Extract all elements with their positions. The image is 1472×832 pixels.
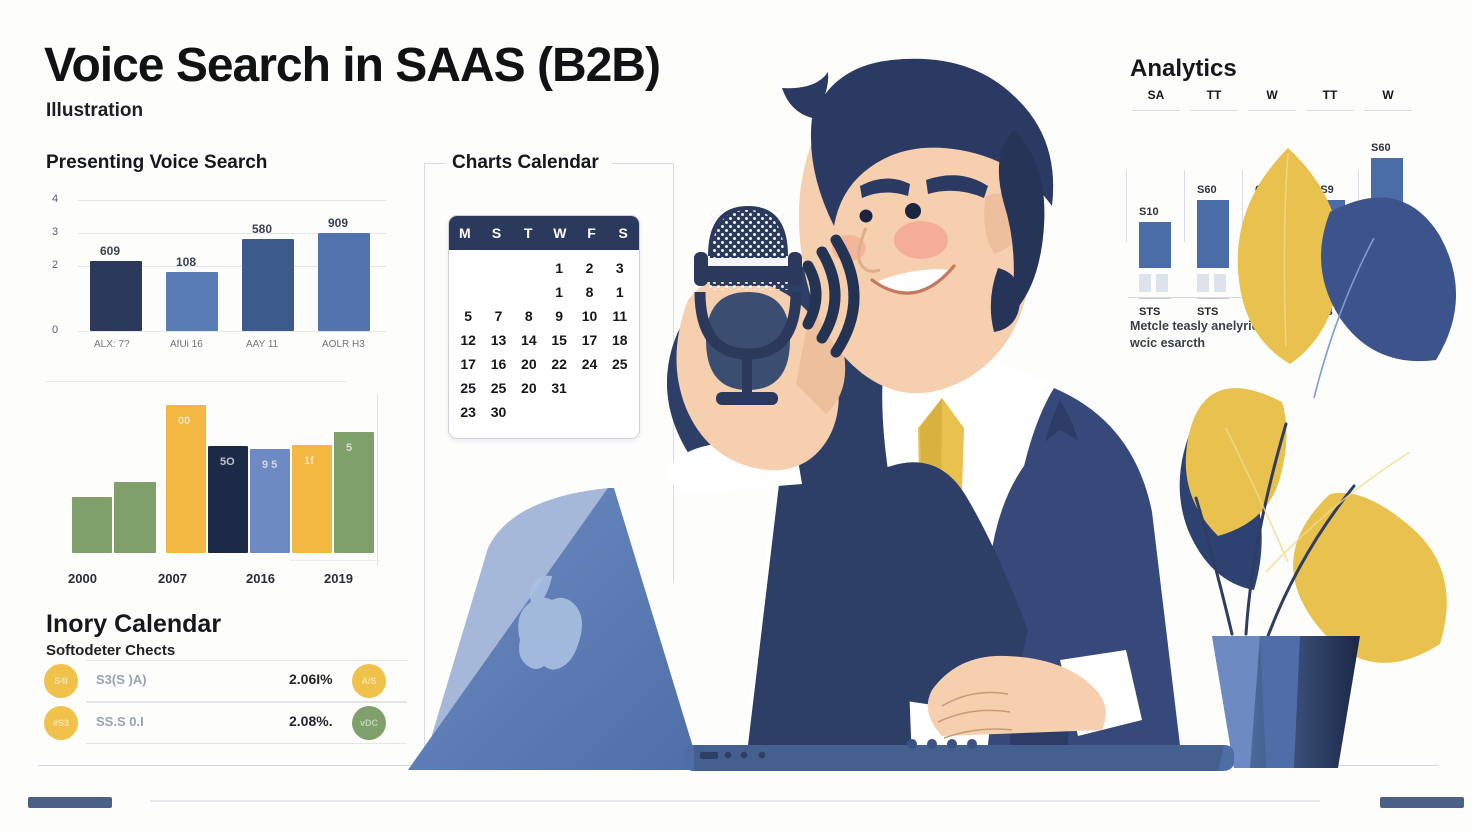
calendar-weekday-header: MSTWFS xyxy=(449,216,639,250)
analytics-footer-rule xyxy=(1371,298,1403,299)
calendar-week-row: 171620222425 xyxy=(453,352,635,376)
analytics-swatch xyxy=(1371,274,1383,292)
analytics-bottom-rule xyxy=(1128,297,1314,298)
list-row-rule-top xyxy=(86,702,407,703)
analytics-swatch xyxy=(1139,274,1151,292)
chart1-plot-area: 609108580909 xyxy=(78,200,386,331)
analytics-footer-label: SE8 xyxy=(1371,306,1392,318)
calendar-weekday: M xyxy=(449,225,481,241)
analytics-bar[interactable] xyxy=(1313,200,1345,268)
presenting-bar-chart: 609108580909 0234ALX: 7?AfUi 16AAY 11AOL… xyxy=(46,200,386,355)
list-row-rule-bottom xyxy=(86,743,407,744)
calendar-day[interactable]: 1 xyxy=(544,284,574,300)
list-avatar-left[interactable]: #S3 xyxy=(44,706,78,740)
calendar-day-empty: · xyxy=(514,284,544,300)
analytics-caption: Metcle teasly anelyrics in wcic esarcth xyxy=(1130,318,1310,352)
analytics-column-separator xyxy=(1126,170,1127,242)
bracket-top-right xyxy=(612,163,674,164)
chart1-y-tick: 4 xyxy=(52,193,58,205)
section-title-inory-calendar: Inory Calendar xyxy=(46,610,221,639)
macbook-laptop xyxy=(408,488,1234,771)
page-subtitle: Illustration xyxy=(46,100,143,122)
chart2-bar-value: 1f xyxy=(304,455,314,467)
softodeter-list: S4IS3(S )A)2.06I%A/S#S3SS.S 0.I2.08%.vDC xyxy=(44,660,389,744)
chart1-bar[interactable] xyxy=(242,239,294,331)
chart2-bar[interactable] xyxy=(114,482,156,553)
chart1-y-tick: 2 xyxy=(52,259,58,271)
analytics-swatch xyxy=(1156,274,1168,292)
analytics-swatch xyxy=(1313,274,1325,292)
apple-logo xyxy=(518,576,582,670)
analytics-footer-label: STS xyxy=(1139,306,1160,318)
calendar-card[interactable]: MSTWFS ···123···181578910111213141517181… xyxy=(448,215,640,439)
desk-horizon-line xyxy=(38,765,1438,766)
calendar-weekday: W xyxy=(544,225,576,241)
calendar-day-empty: · xyxy=(453,284,483,300)
chart2-plot-area: 005O9 51f5 xyxy=(54,405,391,558)
analytics-bar-chart: SAS10STSTTS60STSW6S9SHTTSS9S28WS60SE8 xyxy=(1128,88,1418,318)
chart1-bar[interactable] xyxy=(90,261,142,331)
bracket-left-edge xyxy=(424,163,425,750)
analytics-bar-value: SS9 xyxy=(1313,184,1334,196)
analytics-footer-rule xyxy=(1139,298,1171,299)
analytics-column-header: SA xyxy=(1130,88,1182,111)
analytics-swatch xyxy=(1255,274,1267,292)
calendar-day[interactable]: 8 xyxy=(574,284,604,300)
footer-tab-left xyxy=(28,797,112,808)
analytics-column-separator xyxy=(1242,170,1243,242)
illustration-canvas: Voice Search in SAAS (B2B) Illustration … xyxy=(0,0,1472,832)
calendar-weekday: S xyxy=(607,225,639,241)
calendar-day-empty: · xyxy=(514,260,544,276)
calendar-day[interactable]: 8 xyxy=(514,308,544,324)
analytics-swatch xyxy=(1388,274,1400,292)
chart2-bar[interactable] xyxy=(334,432,374,553)
calendar-day[interactable]: 18 xyxy=(605,332,635,348)
analytics-footer-rule xyxy=(1197,298,1229,299)
calendar-day[interactable]: 31 xyxy=(544,380,574,396)
calendar-day[interactable]: 22 xyxy=(544,356,574,372)
sound-wave-icon xyxy=(808,240,854,352)
analytics-column-underline xyxy=(1306,110,1354,111)
list-item[interactable]: S4IS3(S )A)2.06I%A/S xyxy=(44,660,389,702)
list-row-rule-top xyxy=(86,660,407,661)
chart2-year-label: 2000 xyxy=(68,571,97,586)
analytics-column-label: SA xyxy=(1148,88,1165,102)
calendar-day[interactable]: 23 xyxy=(453,404,483,420)
chart1-gridline xyxy=(78,331,386,332)
chart1-bar-value: 108 xyxy=(176,255,196,269)
calendar-day[interactable]: 30 xyxy=(483,404,513,420)
analytics-footer-rule xyxy=(1313,298,1345,299)
calendar-week-row: 25252031·· xyxy=(453,376,635,400)
chart1-category-label: AfUi 16 xyxy=(170,339,203,350)
chart2-bar[interactable] xyxy=(72,497,112,553)
page-title: Voice Search in SAAS (B2B) xyxy=(44,42,660,90)
footer-tab-right xyxy=(1380,797,1464,808)
calendar-day[interactable]: 1 xyxy=(605,284,635,300)
chart1-bar-value: 609 xyxy=(100,244,120,258)
analytics-footer-label: SH xyxy=(1255,306,1270,318)
calendar-day[interactable]: 5 xyxy=(453,308,483,324)
footer-rule xyxy=(150,800,1320,802)
calendar-day[interactable]: 20 xyxy=(514,356,544,372)
calendar-day[interactable]: 25 xyxy=(453,380,483,396)
list-avatar-right[interactable]: vDC xyxy=(352,706,386,740)
chart2-bar[interactable] xyxy=(166,405,206,553)
chart1-category-label: AAY 11 xyxy=(246,339,278,350)
calendar-day[interactable]: 1 xyxy=(544,260,574,276)
analytics-footer-label: STS xyxy=(1197,306,1218,318)
chart2-divider xyxy=(46,381,346,382)
calendar-day[interactable]: 10 xyxy=(574,308,604,324)
calendar-grid: ···123···1815789101112131415171817162022… xyxy=(449,250,639,424)
analytics-column-header: W xyxy=(1362,88,1414,111)
calendar-day-empty: · xyxy=(514,404,544,420)
chart2-bar-value: 9 5 xyxy=(262,459,277,471)
bracket-top-left xyxy=(424,163,446,164)
calendar-weekday: S xyxy=(481,225,513,241)
chart2-year-label: 2007 xyxy=(158,571,187,586)
analytics-column-separator xyxy=(1184,170,1185,242)
list-item-name: SS.S 0.I xyxy=(96,714,144,729)
calendar-day-empty: · xyxy=(544,404,574,420)
calendar-day-empty: · xyxy=(483,284,513,300)
list-avatar-right[interactable]: A/S xyxy=(352,664,386,698)
calendar-week-row: 57891011 xyxy=(453,304,635,328)
businessman-figure xyxy=(666,59,1182,762)
analytics-bar[interactable] xyxy=(1371,158,1403,268)
calendar-day[interactable]: 12 xyxy=(453,332,483,348)
calendar-day-empty: · xyxy=(605,404,635,420)
calendar-day[interactable]: 16 xyxy=(483,356,513,372)
list-item[interactable]: #S3SS.S 0.I2.08%.vDC xyxy=(44,702,389,744)
calendar-day[interactable]: 17 xyxy=(574,332,604,348)
calendar-day[interactable]: 2 xyxy=(574,260,604,276)
chart1-gridline xyxy=(78,200,386,201)
section-title-presenting: Presenting Voice Search xyxy=(46,152,267,174)
analytics-column-header: TT xyxy=(1304,88,1356,111)
analytics-column-label: W xyxy=(1382,88,1393,102)
chart1-bar[interactable] xyxy=(166,272,218,331)
chart1-bar[interactable] xyxy=(318,233,370,331)
chart2-year-label: 2016 xyxy=(246,571,275,586)
calendar-weekday: T xyxy=(512,225,544,241)
analytics-bar-value: S10 xyxy=(1139,206,1159,218)
analytics-column-separator xyxy=(1358,170,1359,242)
analytics-column-separator xyxy=(1300,170,1301,242)
analytics-swatch xyxy=(1272,274,1284,292)
calendar-day[interactable]: 3 xyxy=(605,260,635,276)
calendar-day[interactable]: 7 xyxy=(483,308,513,324)
analytics-column-header: W xyxy=(1246,88,1298,111)
analytics-footer-rule xyxy=(1255,298,1287,299)
analytics-column-underline xyxy=(1190,110,1238,111)
analytics-column-label: TT xyxy=(1323,88,1338,102)
calendar-weekday: F xyxy=(576,225,608,241)
analytics-column-underline xyxy=(1364,110,1412,111)
analytics-footer-label: S28 xyxy=(1313,306,1333,318)
analytics-bar-value: S60 xyxy=(1371,142,1391,154)
analytics-bar[interactable] xyxy=(1197,200,1229,268)
chart1-bar-value: 909 xyxy=(328,216,348,230)
analytics-bar-value: S60 xyxy=(1197,184,1217,196)
list-item-name: S3(S )A) xyxy=(96,672,147,687)
analytics-bar-value: 6S9 xyxy=(1255,184,1275,196)
analytics-column-label: W xyxy=(1266,88,1277,102)
calendar-week-row: ···181 xyxy=(453,280,635,304)
calendar-day-empty: · xyxy=(574,380,604,396)
calendar-day[interactable]: 25 xyxy=(483,380,513,396)
analytics-bar[interactable] xyxy=(1255,200,1287,268)
calendar-day[interactable]: 9 xyxy=(544,308,574,324)
analytics-column-label: TT xyxy=(1207,88,1222,102)
retro-microphone-icon xyxy=(694,208,802,405)
calendar-day[interactable]: 13 xyxy=(483,332,513,348)
calendar-day[interactable]: 25 xyxy=(605,356,635,372)
calendar-day[interactable]: 24 xyxy=(574,356,604,372)
list-item-percent: 2.06I% xyxy=(289,671,333,687)
calendar-day-empty: · xyxy=(483,260,513,276)
analytics-column-underline xyxy=(1132,110,1180,111)
calendar-day[interactable]: 15 xyxy=(544,332,574,348)
analytics-column-header: TT xyxy=(1188,88,1240,111)
calendar-day[interactable]: 17 xyxy=(453,356,483,372)
calendar-day[interactable]: 11 xyxy=(605,308,635,324)
analytics-swatch xyxy=(1214,274,1226,292)
section-subtitle-softodeter: Softodeter Chects xyxy=(46,642,175,659)
chart2-bar-value: 5 xyxy=(346,442,352,454)
chart1-y-tick: 3 xyxy=(52,226,58,238)
bracket-right-edge xyxy=(673,163,674,582)
calendar-week-row: 2330···· xyxy=(453,400,635,424)
list-item-percent: 2.08%. xyxy=(289,713,333,729)
list-avatar-left[interactable]: S4I xyxy=(44,664,78,698)
chart2-year-label: 2019 xyxy=(324,571,353,586)
analytics-bar[interactable] xyxy=(1139,222,1171,268)
calendar-week-row: 121314151718 xyxy=(453,328,635,352)
calendar-day-empty: · xyxy=(574,404,604,420)
analytics-swatch xyxy=(1197,274,1209,292)
section-title-charts-calendar: Charts Calendar xyxy=(452,152,599,174)
chart2-bar-value: 5O xyxy=(220,456,235,468)
calendar-day-empty: · xyxy=(605,380,635,396)
analytics-swatch xyxy=(1330,274,1342,292)
chart2-bar-value: 00 xyxy=(178,415,190,427)
chart1-y-tick: 0 xyxy=(52,324,58,336)
chart1-category-label: AOLR H3 xyxy=(322,339,365,350)
years-bar-chart: 005O9 51f5 2000200720162019 xyxy=(46,405,391,590)
calendar-day-empty: · xyxy=(453,260,483,276)
calendar-week-row: ···123 xyxy=(453,256,635,280)
section-title-analytics: Analytics xyxy=(1130,55,1237,83)
chart1-category-label: ALX: 7? xyxy=(94,339,130,350)
analytics-column-underline xyxy=(1248,110,1296,111)
calendar-day[interactable]: 14 xyxy=(514,332,544,348)
calendar-day[interactable]: 20 xyxy=(514,380,544,396)
chart1-bar-value: 580 xyxy=(252,222,272,236)
